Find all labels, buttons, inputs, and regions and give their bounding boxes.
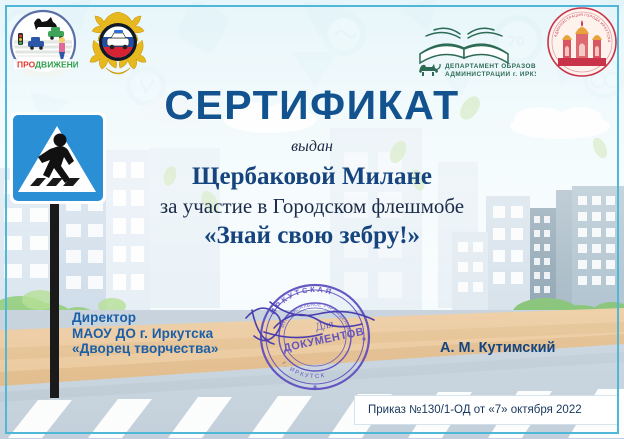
order-reference-box: Приказ №130/1-ОД от «7» октября 2022	[355, 396, 617, 424]
gibdd-emblem	[88, 10, 148, 76]
irkutsk-cathedral-seal: АДМИНИСТРАЦИЯ ГОРОДА ИРКУТСКА	[546, 6, 618, 78]
event-name: «Знай свою зебру!»	[0, 222, 624, 250]
dep-education-line1: ДЕПАРТАМЕНТ ОБРАЗОВАНИЯ	[445, 63, 536, 70]
director-title: Директор	[72, 310, 219, 326]
page-title: СЕРТИФИКАТ	[0, 82, 624, 129]
recipient-name: Щербаковой Милане	[0, 163, 624, 191]
award-reason: за участие в Городском флешмобе	[0, 194, 624, 219]
director-block: Директор МАОУ ДО г. Иркутска «Дворец тво…	[72, 310, 219, 357]
order-reference-text: Приказ №130/1-ОД от «7» октября 2022	[368, 404, 582, 416]
director-org-2: «Дворец творчества»	[72, 341, 219, 357]
signer-name: А. М. Кутимский	[440, 340, 555, 356]
director-org: МАОУ ДО г. Иркутска	[72, 326, 219, 342]
prodvizhenie-caption-pro: ПРО	[17, 60, 36, 70]
department-of-education-logo: ДЕПАРТАМЕНТ ОБРАЗОВАНИЯ АДМИНИСТРАЦИИ г.…	[412, 24, 536, 80]
prodvizhenie-caption-dvizhenie: ДВИЖЕНИЕ	[35, 60, 78, 70]
prodvizhenie-logo: ПРО ДВИЖЕНИЕ	[8, 9, 78, 77]
certificate-canvas: 70	[0, 0, 624, 439]
dep-education-line2: АДМИНИСТРАЦИИ г. ИРКУТСКА	[445, 71, 536, 78]
awarded-label: выдан	[0, 138, 624, 156]
handwritten-signature	[240, 288, 400, 368]
